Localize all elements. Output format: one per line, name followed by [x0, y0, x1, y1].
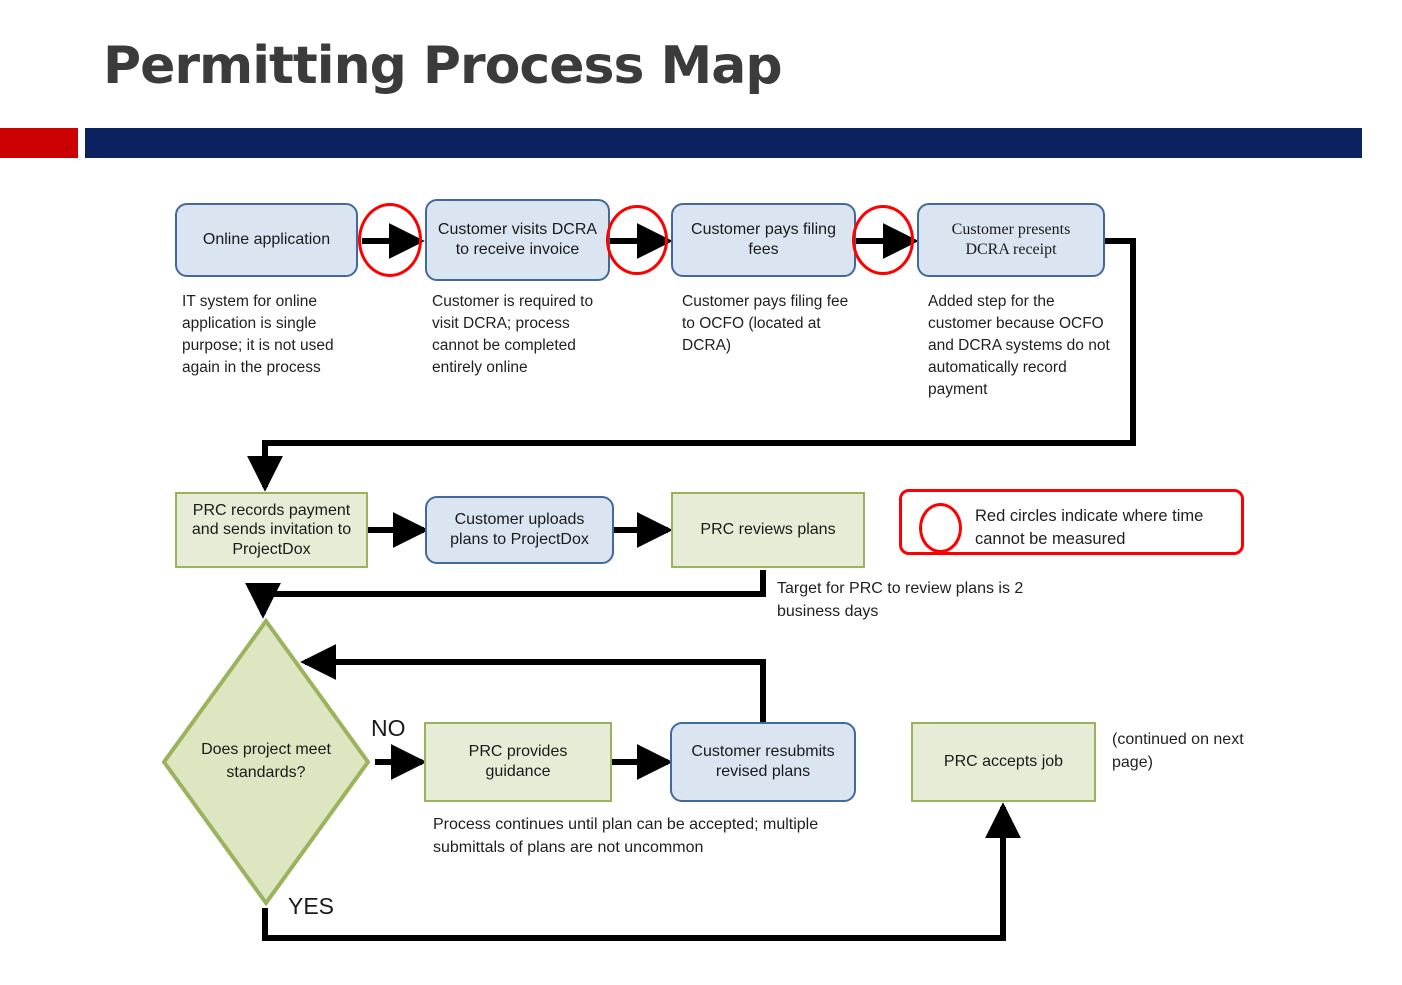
node-prc-accepts-job[interactable]: PRC accepts job: [911, 722, 1096, 802]
branch-label-yes: YES: [288, 893, 334, 920]
header-accent-bar-navy: [85, 128, 1362, 158]
node-label: Online application: [193, 230, 340, 250]
node-label: PRC records payment and sends invitation…: [177, 501, 366, 560]
caption-customer-presents-receipt: Added step for the customer because OCFO…: [928, 291, 1118, 401]
header-accent-bar-red: [0, 128, 78, 158]
node-customer-presents-receipt[interactable]: Customer presents DCRA receipt: [917, 203, 1105, 277]
decision-label-text: Does project meet standards?: [191, 739, 341, 784]
red-oval-icon: [919, 503, 962, 553]
node-label: PRC reviews plans: [690, 520, 845, 540]
page-title: Permitting Process Map: [103, 36, 782, 96]
caption-customer-pays-fees: Customer pays filing fee to OCFO (locate…: [682, 291, 852, 357]
legend-text: Red circles indicate where time cannot b…: [975, 505, 1235, 552]
node-customer-resubmits-plans[interactable]: Customer resubmits revised plans: [670, 722, 856, 802]
arrow-resubmits-to-decision: [305, 662, 763, 722]
node-label: Customer visits DCRA to receive invoice: [427, 220, 608, 259]
slide-canvas: Permitting Process Map: [0, 0, 1402, 985]
node-label: Customer pays filing fees: [673, 220, 854, 259]
branch-label-no: NO: [371, 715, 406, 742]
node-does-project-meet-standards[interactable]: Does project meet standards?: [160, 617, 372, 907]
arrow-reviews-to-decision: [263, 570, 763, 614]
node-label: Does project meet standards?: [160, 617, 372, 907]
red-circle-icon: [358, 203, 422, 277]
node-prc-reviews-plans[interactable]: PRC reviews plans: [671, 492, 865, 568]
node-label: Customer resubmits revised plans: [672, 742, 854, 781]
annotation-review-target: Target for PRC to review plans is 2 busi…: [777, 578, 1047, 623]
node-label: Customer uploads plans to ProjectDox: [427, 510, 612, 549]
annotation-continued-note: (continued on next page): [1112, 729, 1262, 774]
node-customer-uploads-plans[interactable]: Customer uploads plans to ProjectDox: [425, 496, 614, 564]
node-online-application[interactable]: Online application: [175, 203, 358, 277]
annotation-resubmittal-process: Process continues until plan can be acce…: [433, 814, 863, 859]
node-prc-records-payment[interactable]: PRC records payment and sends invitation…: [175, 492, 368, 568]
node-label: PRC provides guidance: [426, 742, 610, 781]
node-prc-provides-guidance[interactable]: PRC provides guidance: [424, 722, 612, 802]
node-customer-pays-fees[interactable]: Customer pays filing fees: [671, 203, 856, 277]
caption-customer-visits-dcra: Customer is required to visit DCRA; proc…: [432, 291, 612, 379]
red-circle-icon: [606, 205, 668, 275]
node-label: PRC accepts job: [934, 752, 1073, 772]
node-customer-visits-dcra[interactable]: Customer visits DCRA to receive invoice: [425, 199, 610, 281]
caption-online-application: IT system for online application is sing…: [182, 291, 352, 379]
node-label: Customer presents DCRA receipt: [919, 220, 1103, 259]
red-circle-icon: [852, 205, 914, 275]
